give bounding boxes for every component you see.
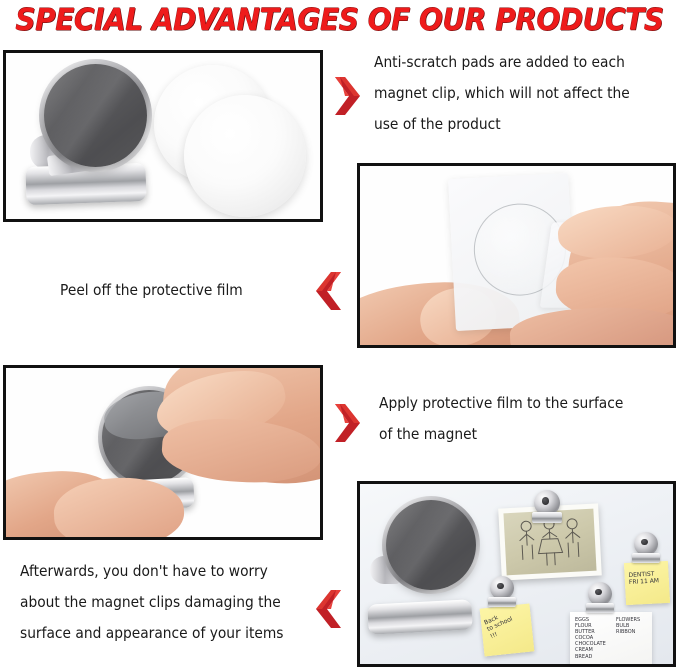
sticky-note-dentist-text: DENTIST FRI 11 AM (628, 570, 659, 586)
caption-line: Peel off the protective film (60, 275, 299, 306)
magnet-disc-rim (382, 496, 480, 594)
mini-clip-dentist (632, 553, 660, 563)
mini-clip-school-note (488, 597, 516, 607)
photo-panel-step-3 (3, 365, 323, 540)
caption-line: magnet clip, which will not affect the (374, 78, 668, 109)
sticky-note-dentist: DENTIST FRI 11 AM (624, 561, 670, 605)
scene-fridge-door: Back to school !!! EGGS FLOUR BUTTER COC… (360, 484, 673, 664)
caption-step-3: Apply protective film to the surface of … (379, 388, 673, 450)
sticky-note-school: Back to school !!! (480, 604, 535, 657)
anti-scratch-pad-front (184, 95, 306, 217)
sticky-note-school-text: Back to school !!! (483, 609, 517, 640)
disc-sheen (44, 64, 147, 167)
magnet-disc (386, 500, 476, 590)
magnet-disc (44, 64, 147, 167)
caption-line: Afterwards, you don't have to worry (20, 556, 314, 587)
disc-sheen (386, 500, 476, 590)
caption-step-2: Peel off the protective film (60, 275, 299, 306)
shopping-list-left-text: EGGS FLOUR BUTTER COCOA CHOCOLATE CREAM … (575, 617, 606, 660)
photo-panel-step-4: Back to school !!! EGGS FLOUR BUTTER COC… (357, 481, 676, 667)
caption-line: surface and appearance of your items (20, 618, 314, 649)
caption-line: about the magnet clips damaging the (20, 587, 314, 618)
chevron-left-icon-step-4 (313, 588, 343, 630)
caption-line: use of the product (374, 109, 668, 140)
chevron-right-icon-step-3 (333, 402, 363, 444)
page-title: SPECIAL ADVANTAGES OF OUR PRODUCTS (20, 0, 658, 40)
caption-line: of the magnet (379, 419, 673, 450)
caption-step-4: Afterwards, you don't have to worry abou… (20, 556, 314, 649)
scene-apply-film (6, 368, 320, 537)
scene-magnet-and-pads (6, 53, 320, 219)
mini-clip-photo (532, 512, 562, 523)
shopping-list-right-text: FLOWERS BULB RIBBON (616, 617, 640, 635)
caption-line: Anti-scratch pads are added to each (374, 47, 668, 78)
chevron-left-icon-step-2 (313, 270, 343, 312)
scene-peel-film (360, 166, 673, 345)
magnet-disc-rim (39, 59, 152, 172)
caption-step-1: Anti-scratch pads are added to each magn… (374, 47, 668, 140)
photo-panel-step-2 (357, 163, 676, 348)
shopping-list-note: EGGS FLOUR BUTTER COCOA CHOCOLATE CREAM … (570, 612, 652, 667)
mini-clip-list (586, 603, 614, 613)
chevron-right-icon-step-1 (333, 75, 363, 117)
photo-panel-step-1 (3, 50, 323, 222)
clip-body (367, 599, 472, 634)
caption-line: Apply protective film to the surface (379, 388, 673, 419)
